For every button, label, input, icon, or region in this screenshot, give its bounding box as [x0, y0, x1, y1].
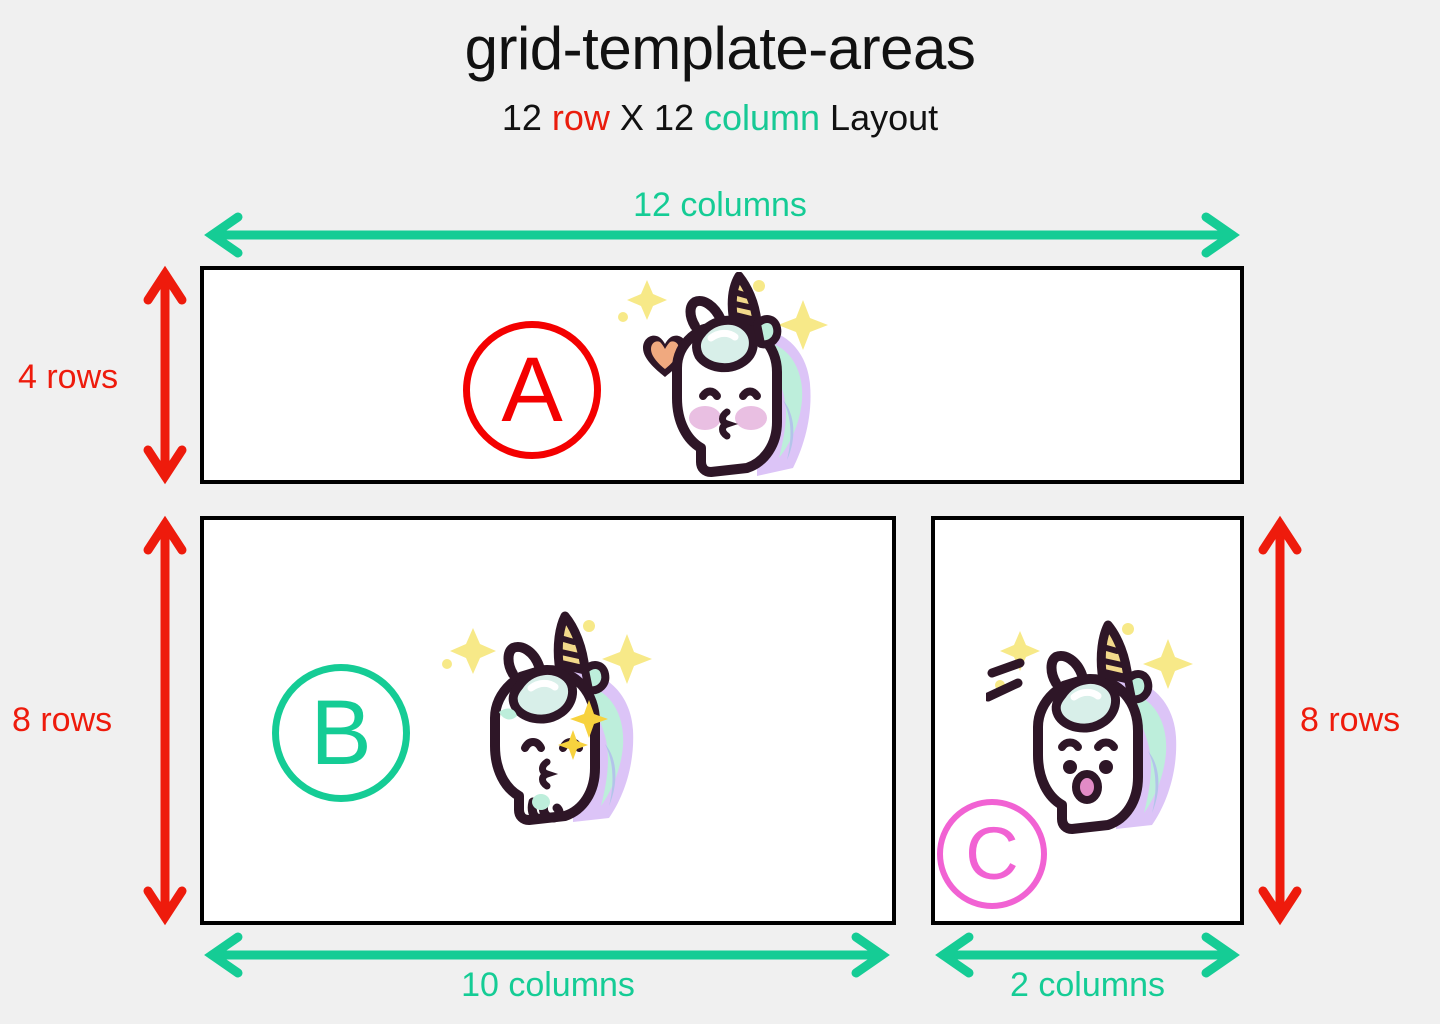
- unicorn-blissful-sparkle-icon: [437, 606, 657, 838]
- label-4-rows: 4 rows: [18, 360, 118, 394]
- area-b-letter: B: [310, 687, 371, 779]
- arrow-8-rows-left: [143, 512, 187, 929]
- subtitle-column-token: column: [704, 97, 820, 138]
- subtitle-trail: Layout: [820, 97, 938, 138]
- arrow-12-columns: [198, 214, 1246, 256]
- label-8-rows-right: 8 rows: [1300, 703, 1400, 737]
- arrow-8-rows-right: [1258, 512, 1302, 929]
- area-b-letter-badge: B: [272, 664, 410, 802]
- unicorn-surprised-icon: [986, 611, 1206, 843]
- page-subtitle: 12 row X 12 column Layout: [0, 96, 1440, 139]
- area-a-letter-badge: A: [463, 321, 601, 459]
- area-a-letter: A: [501, 344, 562, 436]
- label-8-rows-left: 8 rows: [12, 703, 112, 737]
- label-10-columns: 10 columns: [200, 968, 896, 1002]
- arrow-4-rows: [143, 262, 187, 488]
- page-title: grid-template-areas: [0, 16, 1440, 82]
- subtitle-row-token: row: [552, 97, 610, 138]
- unicorn-kissing-heart-icon: [607, 272, 839, 484]
- label-2-columns: 2 columns: [931, 968, 1244, 1002]
- subtitle-lead: 12: [502, 97, 552, 138]
- subtitle-middle: X 12: [610, 97, 704, 138]
- diagram-canvas: grid-template-areas 12 row X 12 column L…: [0, 0, 1440, 1024]
